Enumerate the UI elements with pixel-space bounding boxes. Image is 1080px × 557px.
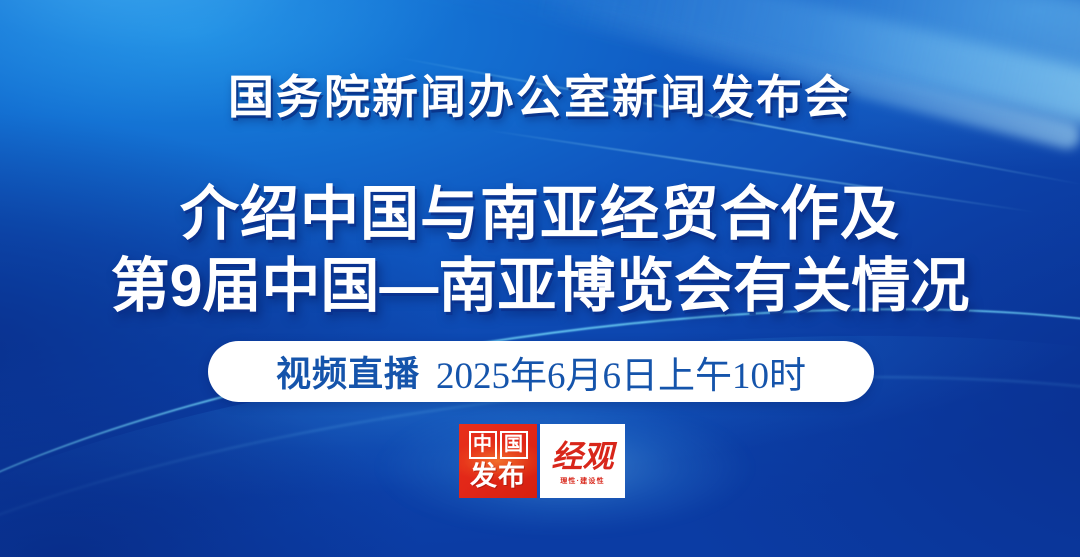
- china-release-logo-char-zhong: 中: [469, 431, 497, 459]
- press-conference-poster: 国务院新闻办公室新闻发布会 介绍中国与南亚经贸合作及 第9届中国—南亚博览会有关…: [0, 0, 1080, 557]
- jingguan-logo-tagline: 理性·建设性: [560, 476, 605, 487]
- headline: 介绍中国与南亚经贸合作及 第9届中国—南亚博览会有关情况: [0, 178, 1080, 322]
- china-release-logo: 中 国 发布: [459, 424, 537, 498]
- jingguan-logo: 经观 理性·建设性: [540, 424, 625, 498]
- logo-row: 中 国 发布 经观 理性·建设性: [459, 424, 625, 498]
- page-title: 国务院新闻办公室新闻发布会: [0, 74, 1080, 122]
- china-release-logo-char-guo: 国: [500, 431, 528, 459]
- live-badge-label: 视频直播: [276, 346, 420, 397]
- live-broadcast-badge: 视频直播 2025年6月6日上午10时: [208, 341, 874, 402]
- live-badge-time: 2025年6月6日上午10时: [436, 345, 806, 399]
- jingguan-logo-title: 经观: [552, 440, 614, 474]
- headline-line-1: 介绍中国与南亚经贸合作及: [0, 178, 1080, 250]
- china-release-logo-top: 中 国: [469, 431, 528, 459]
- china-release-logo-bottom: 发布: [470, 461, 526, 492]
- headline-line-2: 第9届中国—南亚博览会有关情况: [0, 250, 1080, 322]
- poster-content: 国务院新闻办公室新闻发布会 介绍中国与南亚经贸合作及 第9届中国—南亚博览会有关…: [0, 0, 1080, 557]
